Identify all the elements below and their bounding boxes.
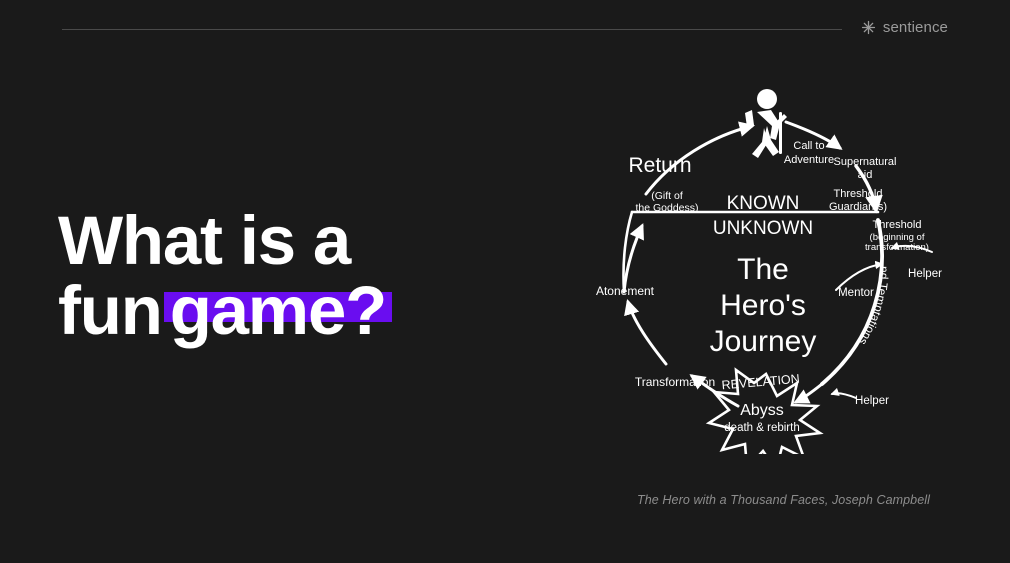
stage-label-supernatural-aid-line-1: Supernatural: [834, 156, 897, 168]
header-bar: sentience: [0, 0, 1010, 56]
diagram-center-title-line-2: Hero's: [720, 289, 806, 322]
stage-label-call-to-adventure-line-1: Call to: [793, 140, 824, 152]
stage-label-supernatural-aid-line-2: aid: [858, 169, 873, 181]
brand-name-label: sentience: [883, 19, 948, 36]
abyss-title-label: Abyss: [740, 402, 784, 419]
stage-label-gift-of-the-goddess-line-2: the Goddess): [635, 202, 698, 214]
asterisk-sunburst-icon: [861, 20, 876, 35]
headline-line-2: fun game?: [58, 276, 538, 346]
stage-label-atonement: Atonement: [596, 284, 655, 298]
stage-label-gift-of-the-goddess-line-1: (Gift of: [651, 190, 683, 202]
diagram-center-title-line-3: Journey: [710, 325, 817, 358]
hero-journey-svg: The Hero's Journey KNOWN UNKNOWN Return …: [560, 74, 980, 454]
arrow-transformation-to-atonement: [628, 302, 666, 364]
diagram-caption: The Hero with a Thousand Faces, Joseph C…: [637, 493, 930, 507]
headline-prefix-label: fun: [58, 272, 162, 349]
arrow-arc-to-abyss: [796, 384, 822, 402]
stage-label-mentor: Mentor: [838, 287, 874, 299]
stage-label-helper-lower: Helper: [855, 395, 889, 407]
diagram-unknown-label: UNKNOWN: [713, 218, 813, 239]
hiker-with-backpack-icon: [745, 89, 787, 158]
headline-highlight-label: game?: [170, 272, 386, 349]
stage-label-helper-upper: Helper: [908, 268, 942, 280]
stage-label-transformation: Transformation: [635, 375, 715, 389]
headline-highlight: game?: [164, 276, 392, 346]
brand-logo[interactable]: sentience: [861, 19, 948, 36]
stage-label-return: Return: [628, 154, 691, 177]
diagram-known-label: KNOWN: [727, 193, 800, 214]
arrow-helper-lower: [832, 393, 856, 398]
stage-label-threshold-guardians-line-2: Guardian(s): [829, 201, 887, 213]
headline-line-1: What is a: [58, 206, 538, 276]
stage-label-threshold-line-3: transformation): [865, 242, 929, 253]
header-divider-rule: [62, 29, 842, 30]
hero-journey-diagram: The Hero's Journey KNOWN UNKNOWN Return …: [560, 74, 980, 454]
stage-label-call-to-adventure-line-2: Adventure: [784, 154, 834, 166]
stage-label-threshold-line-1: Threshold: [873, 219, 922, 231]
page-title: What is a fun game?: [58, 206, 538, 346]
stage-label-threshold-guardians-line-1: Threshold: [834, 188, 883, 200]
abyss-subtitle-label: death & rebirth: [724, 422, 799, 434]
diagram-center-title-line-1: The: [737, 253, 789, 286]
